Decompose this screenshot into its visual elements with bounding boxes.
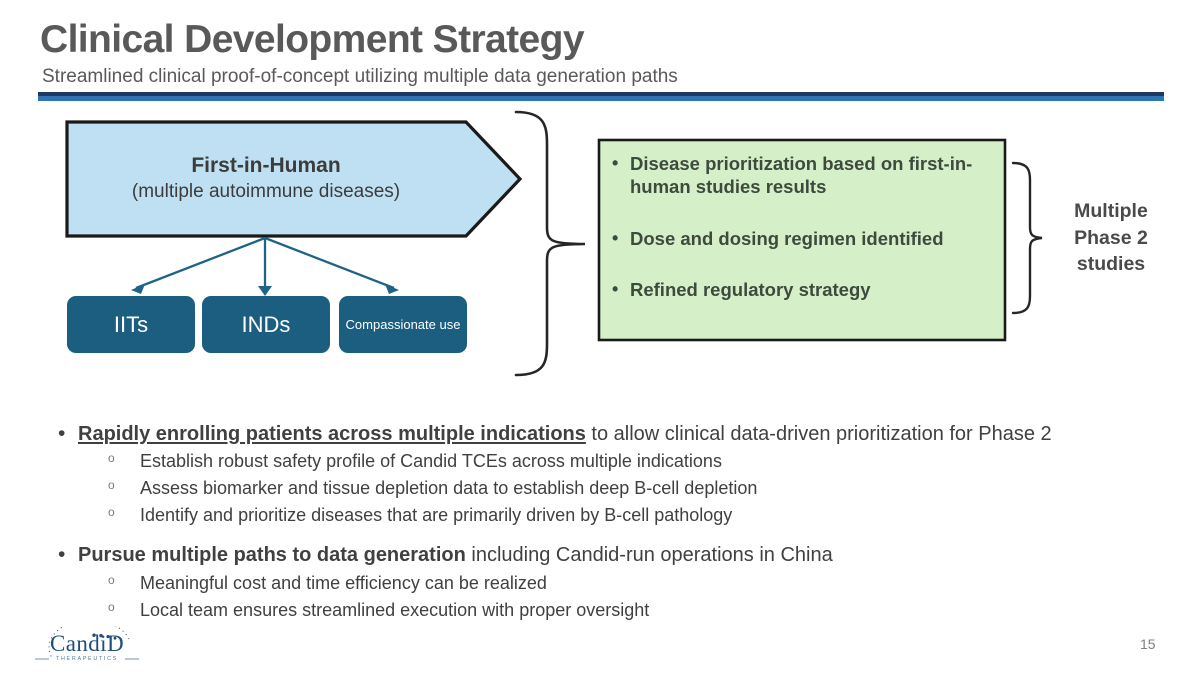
- slide-canvas: Clinical Development Strategy Streamline…: [0, 0, 1200, 675]
- candid-therapeutics-logo: CandiD THERAPEUTICS: [33, 626, 141, 670]
- outcomes-list-item: • Refined regulatory strategy: [612, 278, 1004, 301]
- left-group-brace: [516, 112, 585, 375]
- body-content: Rapidly enrolling patients across multip…: [56, 420, 1166, 624]
- bullet-lead-rest: to allow clinical data-driven prioritiza…: [586, 423, 1052, 445]
- bullet-lead-rest: including Candid-run operations in China: [466, 544, 833, 566]
- bullet-level2: Assess biomarker and tissue depletion da…: [56, 475, 1166, 502]
- pathway-label-compassionate-use: Compassionate use: [339, 296, 467, 353]
- outcomes-item-text: Dose and dosing regimen identified: [630, 227, 944, 250]
- bullet-level2: Identify and prioritize diseases that ar…: [56, 502, 1166, 529]
- pathway-connectors: [136, 238, 394, 288]
- page-number: 15: [1140, 636, 1156, 652]
- outcomes-item-text: Disease prioritization based on first-in…: [630, 152, 1004, 199]
- bullet-lead-emphasis: Pursue multiple paths to data generation: [78, 544, 466, 566]
- bullet-level1: Rapidly enrolling patients across multip…: [56, 420, 1166, 448]
- outcomes-item-text: Refined regulatory strategy: [630, 278, 871, 301]
- first-in-human-arrow-shape: [67, 122, 520, 236]
- outcomes-list-item: • Dose and dosing regimen identified: [612, 227, 1004, 250]
- bullet-level1: Pursue multiple paths to data generation…: [56, 541, 1166, 569]
- multiple-phase2-label: Multiple Phase 2 studies: [1046, 198, 1176, 278]
- right-phase2-brace: [1013, 163, 1042, 313]
- pathway-label-iits: IITs: [67, 296, 195, 353]
- bullet-lead-emphasis: Rapidly enrolling patients across multip…: [78, 423, 586, 445]
- bullet-group-2: Pursue multiple paths to data generation…: [56, 541, 1166, 623]
- outcomes-list: • Disease prioritization based on first-…: [612, 152, 1004, 302]
- bullet-level2: Local team ensures streamlined execution…: [56, 597, 1166, 624]
- bullet-group-1: Rapidly enrolling patients across multip…: [56, 420, 1166, 529]
- pathway-label-inds: INDs: [202, 296, 330, 353]
- logo-wordmark: CandiD: [33, 631, 141, 657]
- outcomes-list-item: • Disease prioritization based on first-…: [612, 152, 1004, 199]
- bullet-dot-icon: •: [612, 152, 630, 175]
- bullet-dot-icon: •: [612, 227, 630, 250]
- bullet-dot-icon: •: [612, 278, 630, 301]
- logo-tagline: THERAPEUTICS: [33, 656, 141, 662]
- bullet-level2: Meaningful cost and time efficiency can …: [56, 570, 1166, 597]
- bullet-level2: Establish robust safety profile of Candi…: [56, 448, 1166, 475]
